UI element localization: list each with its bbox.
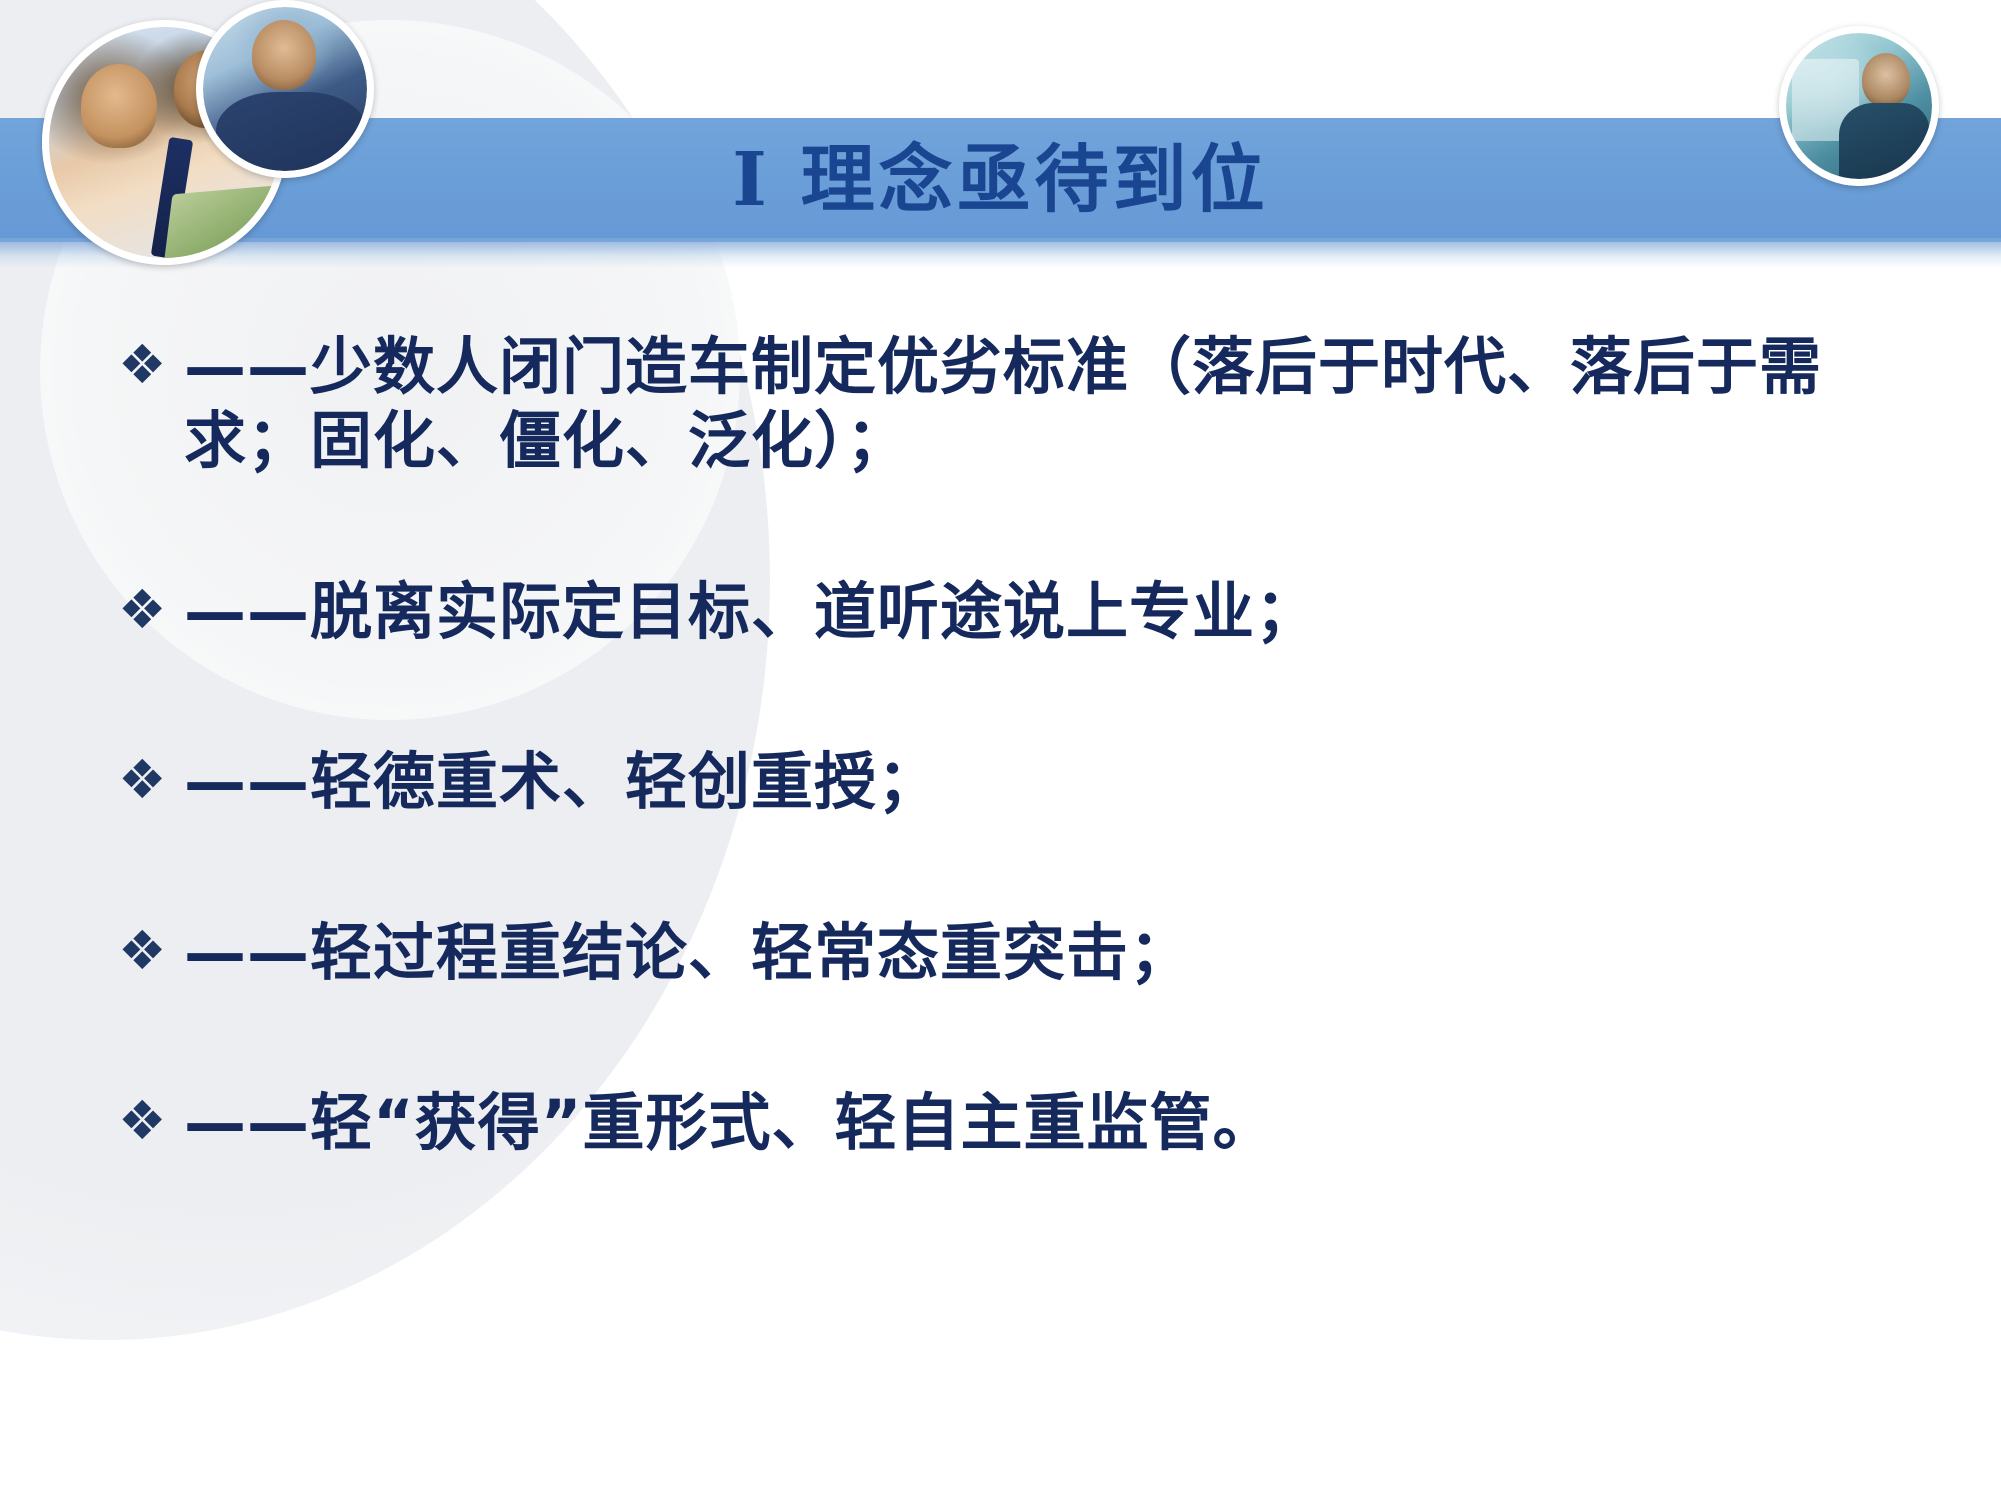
bullet-text: ——轻“获得”重形式、轻自主重监管。 [184,1086,1941,1160]
photo-b-suit [216,92,367,171]
presentation-slide: Ⅰ 理念亟待到位 ❖ ——少数人闭门造车制定优劣标准（落后于时代、落后于需求；固… [0,0,2001,1501]
bullet-text: ——少数人闭门造车制定优劣标准（落后于时代、落后于需求；固化、僵化、泛化）； [184,330,1941,479]
bullet-text: ——轻德重术、轻创重授； [184,745,1941,819]
photo-c-person [1862,53,1910,107]
bullet-text: ——脱离实际定目标、道听途说上专业； [184,575,1941,649]
bullet-item: ❖ ——轻“获得”重形式、轻自主重监管。 [0,1086,2001,1160]
photo-a-laptop-screen [164,184,280,258]
photo-b-person [252,20,316,90]
bullet-item: ❖ ——脱离实际定目标、道听途说上专业； [0,575,2001,649]
businessman-suit-photo [196,0,374,178]
diamond-bullet-icon: ❖ [118,575,184,639]
diamond-bullet-icon: ❖ [118,1086,184,1150]
photo-b-image [203,7,367,171]
bullet-text: ——轻过程重结论、轻常态重突击； [184,916,1941,990]
diamond-bullet-icon: ❖ [118,330,184,394]
diamond-bullet-icon: ❖ [118,916,184,980]
slide-body: ❖ ——少数人闭门造车制定优劣标准（落后于时代、落后于需求；固化、僵化、泛化）；… [0,330,2001,1160]
bullet-item: ❖ ——轻德重术、轻创重授； [0,745,2001,819]
bullet-item: ❖ ——少数人闭门造车制定优劣标准（落后于时代、落后于需求；固化、僵化、泛化）； [0,330,2001,479]
photo-c-suit [1839,103,1930,179]
photo-a-person-one [81,64,157,148]
diamond-bullet-icon: ❖ [118,745,184,809]
presenter-flipchart-photo [1779,26,1939,186]
photo-c-image [1786,33,1932,179]
bullet-item: ❖ ——轻过程重结论、轻常态重突击； [0,916,2001,990]
